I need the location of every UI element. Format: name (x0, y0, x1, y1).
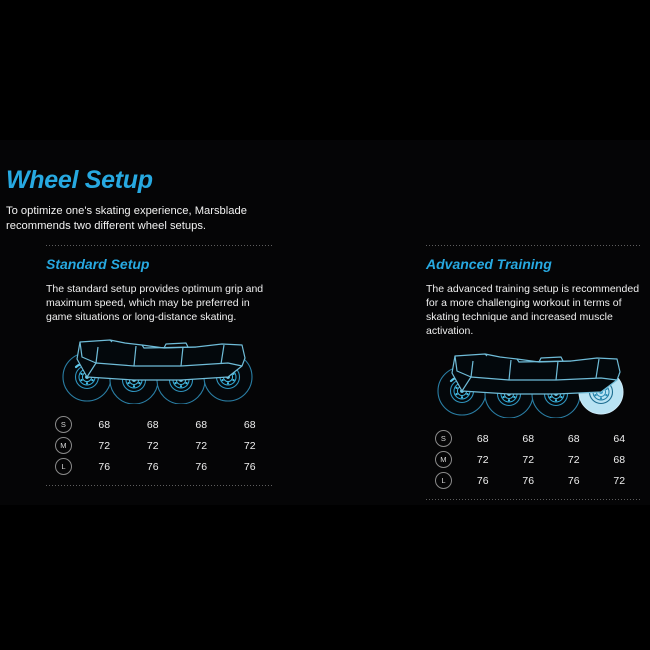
wheel-size-value: 68 (129, 414, 178, 435)
wheel-size-value: 72 (80, 435, 129, 456)
column-top-divider (426, 245, 642, 246)
column-bottom-divider (46, 485, 274, 486)
wheel-size-value: 68 (460, 428, 506, 449)
wheel-size-value: 72 (177, 435, 226, 456)
table-row: S 68 68 68 68 (46, 414, 274, 435)
content-area: Wheel Setup To optimize one's skating ex… (0, 140, 650, 505)
skate-illustration-advanced (426, 350, 642, 418)
size-badge-m: M (435, 451, 452, 468)
wheel-size-value: 76 (460, 470, 506, 491)
size-badge-cell: S (46, 414, 80, 435)
column-advanced-training: Advanced Training The advanced training … (426, 245, 642, 500)
skate-illustration-standard (46, 336, 274, 404)
wheel-size-value: 72 (506, 449, 552, 470)
wheel-size-value: 68 (551, 428, 597, 449)
column-description-standard: The standard setup provides optimum grip… (46, 282, 274, 324)
size-badge-l: L (435, 472, 452, 489)
size-table-advanced: S 68 68 68 64 M 72 72 72 68 (426, 428, 642, 491)
wheel-size-value: 72 (597, 470, 643, 491)
wheel-size-value: 76 (506, 470, 552, 491)
wheel-size-value: 76 (226, 456, 275, 477)
wheel-size-value: 72 (226, 435, 275, 456)
size-badge-l: L (55, 458, 72, 475)
size-badge-s: S (435, 430, 452, 447)
page-intro-text: To optimize one's skating experience, Ma… (6, 204, 306, 233)
column-bottom-divider (426, 499, 642, 500)
wheel-setup-page: Wheel Setup To optimize one's skating ex… (0, 0, 650, 650)
wheel-size-value: 68 (506, 428, 552, 449)
table-row: L 76 76 76 72 (426, 470, 642, 491)
size-table-body: S 68 68 68 68 M 72 72 72 72 (46, 414, 274, 477)
size-badge-s: S (55, 416, 72, 433)
size-badge-cell: L (46, 456, 80, 477)
size-badge-cell: L (426, 470, 460, 491)
wheel-size-value: 68 (226, 414, 275, 435)
wheel-size-value: 72 (129, 435, 178, 456)
skate-frame (452, 354, 620, 394)
size-badge-cell: M (426, 449, 460, 470)
column-title-advanced: Advanced Training (426, 257, 642, 271)
column-top-divider (46, 245, 274, 246)
wheel-size-value: 68 (177, 414, 226, 435)
inline-skate-icon (426, 350, 642, 418)
wheel-size-value: 72 (460, 449, 506, 470)
table-row: S 68 68 68 64 (426, 428, 642, 449)
wheel-size-value: 68 (597, 449, 643, 470)
wheel-size-value: 68 (80, 414, 129, 435)
table-row: M 72 72 72 68 (426, 449, 642, 470)
size-badge-cell: S (426, 428, 460, 449)
column-description-advanced: The advanced training setup is recommend… (426, 282, 642, 338)
size-table-body: S 68 68 68 64 M 72 72 72 68 (426, 428, 642, 491)
size-badge-cell: M (46, 435, 80, 456)
size-table-standard: S 68 68 68 68 M 72 72 72 72 (46, 414, 274, 477)
wheel-size-value: 76 (129, 456, 178, 477)
wheel-size-value: 76 (551, 470, 597, 491)
size-badge-m: M (55, 437, 72, 454)
inline-skate-icon (46, 336, 274, 404)
column-title-standard: Standard Setup (46, 257, 274, 271)
wheel-size-value: 72 (551, 449, 597, 470)
wheel-size-value: 64 (597, 428, 643, 449)
table-row: M 72 72 72 72 (46, 435, 274, 456)
table-row: L 76 76 76 76 (46, 456, 274, 477)
column-standard-setup: Standard Setup The standard setup provid… (46, 245, 274, 486)
page-title: Wheel Setup (6, 168, 153, 193)
wheel-size-value: 76 (177, 456, 226, 477)
skate-frame (77, 340, 245, 380)
wheel-size-value: 76 (80, 456, 129, 477)
